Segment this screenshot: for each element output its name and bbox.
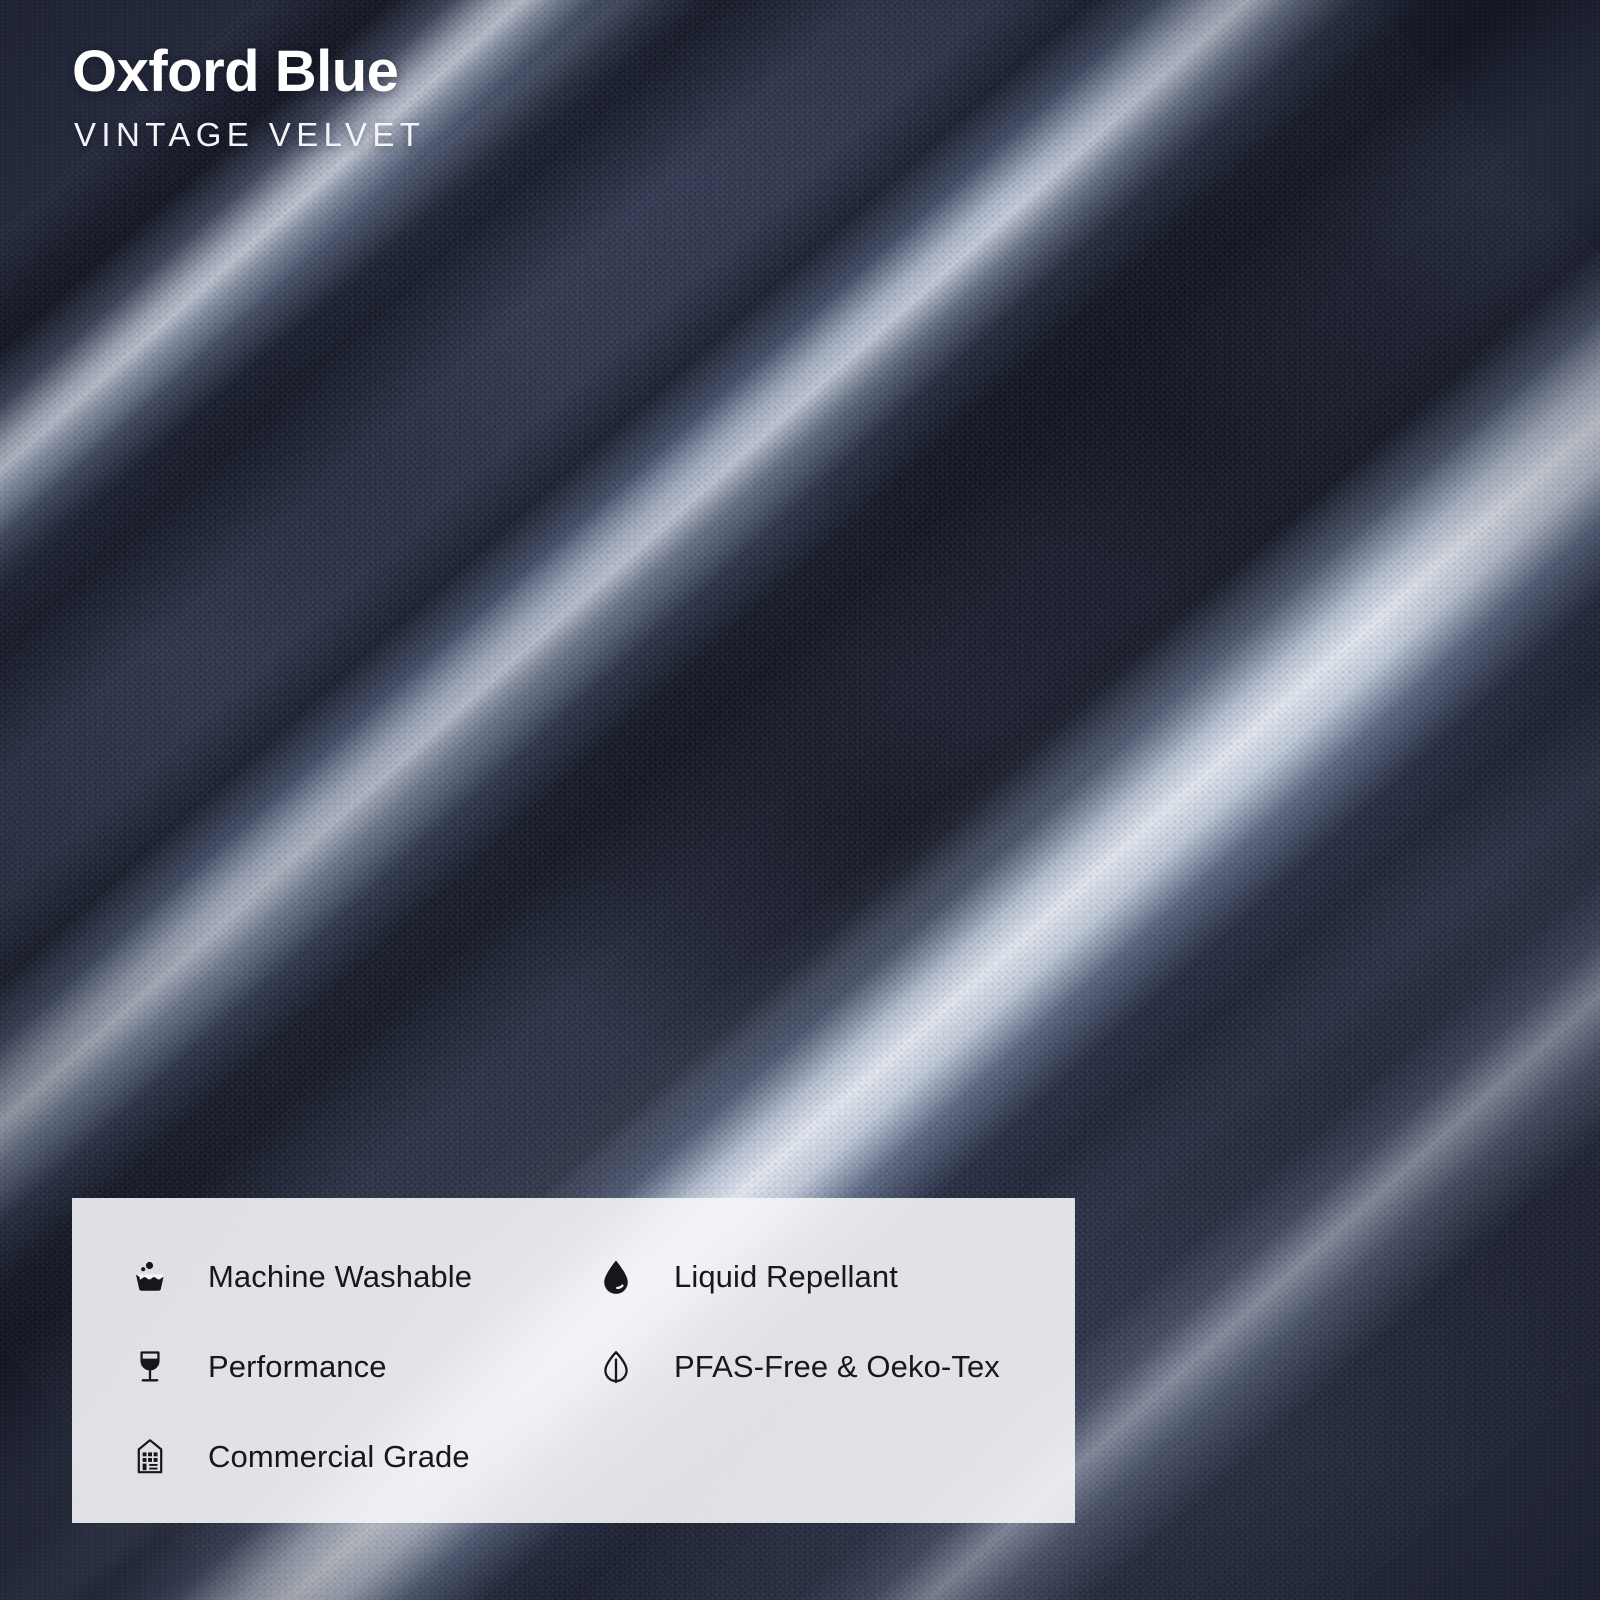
product-swatch-image: Oxford Blue VINTAGE VELVET Machine Washa… (0, 0, 1600, 1600)
feature-item-liquid-repellant: Liquid Repellant (538, 1232, 1075, 1322)
feature-label: PFAS-Free & Oeko-Tex (674, 1349, 1000, 1385)
leaf-icon (594, 1345, 638, 1389)
feature-panel: Machine Washable Liquid Repellant (72, 1198, 1075, 1523)
feature-label: Liquid Repellant (674, 1259, 898, 1295)
product-title: Oxford Blue (72, 42, 425, 103)
product-header: Oxford Blue VINTAGE VELVET (72, 42, 425, 153)
feature-item-performance: Performance (72, 1322, 538, 1412)
droplet-icon (594, 1255, 638, 1299)
building-icon (128, 1435, 172, 1479)
feature-grid: Machine Washable Liquid Repellant (72, 1232, 1075, 1502)
feature-item-machine-washable: Machine Washable (72, 1232, 538, 1322)
wash-tub-icon (128, 1255, 172, 1299)
feature-label: Machine Washable (208, 1259, 472, 1295)
feature-item-commercial-grade: Commercial Grade (72, 1412, 538, 1502)
product-subtitle: VINTAGE VELVET (74, 117, 425, 153)
feature-label: Commercial Grade (208, 1439, 470, 1475)
wine-glass-icon (128, 1345, 172, 1389)
feature-label: Performance (208, 1349, 387, 1385)
feature-item-pfas-free: PFAS-Free & Oeko-Tex (538, 1322, 1075, 1412)
